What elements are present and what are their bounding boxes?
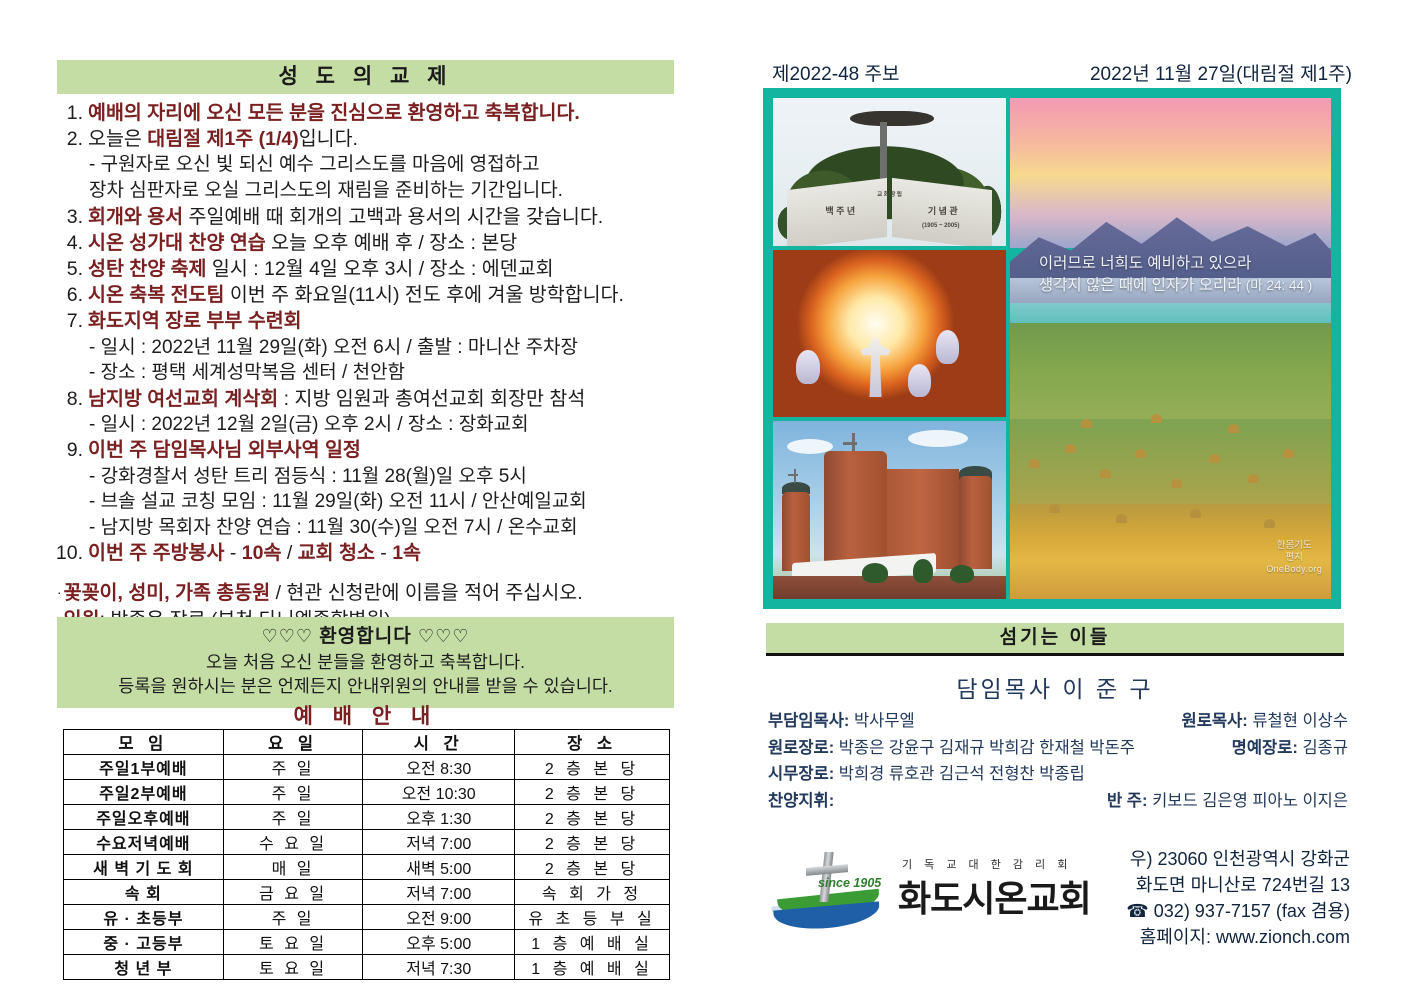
staff-right-group: 반 주: 키보드 김은영 피아노 이지은 (1107, 788, 1348, 815)
logo-mark: since 1905 (772, 850, 884, 924)
table-row: 중 · 고등부토 요 일오후 5:001 층 예 배 실 (64, 930, 670, 955)
announcement-text: 남지방 여선교회 계삭회 : 지방 임원과 총여선교회 회장만 참석 (88, 386, 674, 412)
table-cell: 주 일 (223, 805, 363, 830)
table-header-cell-2: 시 간 (363, 730, 515, 755)
staff-row-spacer (1085, 761, 1348, 788)
announcement-subitem: - 강화경찰서 성탄 트리 점등식 : 11월 28(월)일 오후 5시 (57, 464, 674, 490)
table-cell: 유 초 등 부 실 (515, 905, 670, 930)
table-cell: 주일오후예배 (64, 805, 224, 830)
prayer-item: ·꽃꽂이, 성미, 가족 총동원 / 현관 신청란에 이름을 적어 주십시오. (57, 580, 674, 608)
staff-row: 찬양지휘:반 주: 키보드 김은영 피아노 이지은 (768, 788, 1348, 815)
haystack-shape (1135, 449, 1146, 458)
haystack-shape (1029, 459, 1040, 468)
haystack-shape (1100, 469, 1111, 478)
table-row: 새 벽 기 도 회매 일새벽 5:002 층 본 당 (64, 855, 670, 880)
verse-line-1: 이러므로 너희도 예비하고 있으라 (1039, 253, 1315, 275)
staff-right-names: 키보드 김은영 피아노 이지은 (1148, 792, 1349, 810)
bulletin-page: 성 도 의 교 제 1.예배의 자리에 오신 모든 분을 진심으로 환영하고 축… (0, 0, 1403, 992)
announcement-item: 7.화도지역 장로 부부 수련회 (57, 308, 674, 334)
table-cell: 2 층 본 당 (515, 855, 670, 880)
table-row: 수요저녁예배수 요 일저녁 7:002 층 본 당 (64, 830, 670, 855)
worship-schedule-table: 모 임요 일시 간장 소 주일1부예배주 일오전 8:302 층 본 당주일2부… (63, 729, 670, 980)
table-cell: 2 층 본 당 (515, 830, 670, 855)
issue-date: 2022년 11월 27일(대림절 제1주) (1090, 59, 1352, 86)
table-cell: 유 · 초등부 (64, 905, 224, 930)
haystack-shape (1264, 519, 1275, 528)
scripture-verse-overlay: 이러므로 너희도 예비하고 있으라 생각지 않은 때에 인자가 오리라 (마 2… (1039, 253, 1315, 297)
verse-reference: (마 24: 44 ) (1246, 278, 1312, 293)
announcement-number: 9. (57, 437, 83, 463)
announcement-item: 3.회개와 용서 주일예배 때 회개의 고백과 용서의 시간을 갖습니다. (57, 204, 674, 230)
staff-left-group: 부담임목사: 박사무엘 (768, 708, 915, 735)
welcome-line-1: 오늘 처음 오신 분들을 환영하고 축복합니다. (57, 650, 674, 675)
staff-left-names: 박희경 류호관 김근석 전형찬 박종립 (834, 765, 1085, 783)
church-building-photo (773, 421, 1006, 599)
announcement-text: 이번 주 주방봉사 - 10속 / 교회 청소 - 1속 (88, 540, 674, 566)
announcement-text: 오늘은 대림절 제1주 (1/4)입니다. (88, 126, 674, 152)
welcome-line-2: 등록을 원하시는 분은 언제든지 안내위원의 안내를 받을 수 있습니다. (57, 674, 674, 699)
haystack-shape (1171, 479, 1182, 488)
table-cell: 오전 8:30 (363, 755, 515, 780)
left-column: 성 도 의 교 제 1.예배의 자리에 오신 모든 분을 진심으로 환영하고 축… (57, 60, 674, 690)
shrub-shape-2 (913, 559, 933, 583)
table-cell: 새벽 5:00 (363, 855, 515, 880)
haystack-shape (1049, 504, 1060, 513)
watermark-line-1: 한몸기도 (1266, 540, 1322, 552)
staff-right-names: 류철현 이상수 (1248, 712, 1348, 730)
watermark-org: OneBody.org (1266, 564, 1322, 575)
haystack-shape (1081, 419, 1092, 428)
welcome-title-row: ♡♡♡ 환영합니다 ♡♡♡ (57, 624, 674, 650)
announcement-text: 예배의 자리에 오신 모든 분을 진심으로 환영하고 축복합니다. (88, 100, 674, 126)
table-cell: 오전 9:00 (363, 905, 515, 930)
hearts-left-icon: ♡♡♡ (262, 626, 313, 646)
announcement-text: 시온 축복 전도팀 이번 주 화요일(11시) 전도 후에 겨울 방학합니다. (88, 282, 674, 308)
table-cell: 저녁 7:00 (363, 830, 515, 855)
table-header-cell-1: 요 일 (223, 730, 363, 755)
painting-background (773, 250, 1006, 417)
table-cell: 2 층 본 당 (515, 805, 670, 830)
table-cell: 매 일 (223, 855, 363, 880)
staff-left-label: 부담임목사: (768, 712, 849, 730)
announcement-text: 회개와 용서 주일예배 때 회개의 고백과 용서의 시간을 갖습니다. (88, 204, 674, 230)
announcement-number: 10. (51, 540, 83, 566)
address-line: 우) 23060 인천광역시 강화군 (1082, 846, 1350, 872)
haystack-shape (1116, 514, 1127, 523)
address-line: ☎ 032) 937-7157 (fax 겸용) (1082, 898, 1350, 924)
haystack-shape (1151, 414, 1162, 423)
table-cell: 수 요 일 (223, 830, 363, 855)
staff-row-spacer (915, 708, 1182, 735)
staff-row-spacer (1135, 735, 1232, 762)
table-cell: 주일2부예배 (64, 780, 224, 805)
announcement-item: 4.시온 성가대 찬양 연습 오늘 오후 예배 후 / 장소 : 본당 (57, 230, 674, 256)
angel-figure-left (796, 350, 819, 383)
table-cell: 중 · 고등부 (64, 930, 224, 955)
shrub-shape-1 (862, 563, 888, 583)
church-address-block: 우) 23060 인천광역시 강화군화도면 마니산로 724번길 13☎ 032… (1082, 846, 1350, 950)
table-row: 주일1부예배주 일오전 8:302 층 본 당 (64, 755, 670, 780)
table-cell: 토 요 일 (223, 955, 363, 980)
table-row: 주일오후예배주 일오후 1:302 층 본 당 (64, 805, 670, 830)
table-cell: 2 층 본 당 (515, 755, 670, 780)
logo-since-text: since 1905 (818, 876, 881, 890)
hearts-right-icon: ♡♡♡ (418, 626, 469, 646)
monument-caption-right: 기 념 관 (928, 206, 958, 216)
table-cell: 1 층 예 배 실 (515, 955, 670, 980)
angel-figure-right (936, 330, 959, 363)
announcement-item: 2.오늘은 대림절 제1주 (1/4)입니다. (57, 126, 674, 152)
servants-section-title: 섬기는 이들 (766, 623, 1344, 656)
announcement-text: 이번 주 담임목사님 외부사역 일정 (88, 437, 674, 463)
staff-right-group: 원로목사: 류철현 이상수 (1182, 708, 1348, 735)
staff-right-label: 명예장로: (1232, 739, 1298, 757)
table-cell: 오후 1:30 (363, 805, 515, 830)
table-cell: 속 회 (64, 880, 224, 905)
left-small-tower (782, 492, 810, 570)
announcement-number: 7. (57, 308, 83, 334)
staff-left-names: 박사무엘 (849, 712, 914, 730)
announcement-number: 6. (57, 282, 83, 308)
table-cell: 수요저녁예배 (64, 830, 224, 855)
announcement-text: 성탄 찬양 축제 일시 : 12월 4일 오후 3시 / 장소 : 에덴교회 (88, 256, 674, 282)
staff-row-spacer (834, 788, 1107, 815)
staff-right-names: 김종규 (1298, 739, 1348, 757)
haystack-shape (1283, 449, 1294, 458)
table-cell: 저녁 7:30 (363, 955, 515, 980)
staff-left-group: 시무장로: 박희경 류호관 김근석 전형찬 박종립 (768, 761, 1085, 788)
table-header-row: 모 임요 일시 간장 소 (64, 730, 670, 755)
photo-collage: 교 회 창 립 백 주 년 기 념 관 (1905 ~ 2005) (763, 88, 1341, 609)
staff-right-label: 원로목사: (1182, 712, 1248, 730)
haystack-shape (1248, 474, 1259, 483)
announcement-text: 화도지역 장로 부부 수련회 (88, 308, 674, 334)
table-cell: 주일1부예배 (64, 755, 224, 780)
announcement-number: 8. (57, 386, 83, 412)
announcement-subitem: - 일시 : 2022년 12월 2일(금) 오후 2시 / 장소 : 장화교회 (57, 412, 674, 438)
address-line: 홈페이지: www.zionch.com (1082, 924, 1350, 950)
haystack-shape (1065, 444, 1076, 453)
announcement-item: 9.이번 주 담임목사님 외부사역 일정 (57, 437, 674, 463)
table-cell: 금 요 일 (223, 880, 363, 905)
announcement-item: 1.예배의 자리에 오신 모든 분을 진심으로 환영하고 축복합니다. (57, 100, 674, 126)
table-cell: 주 일 (223, 905, 363, 930)
church-name: 화도시온교회 (898, 870, 1091, 922)
staff-row: 부담임목사: 박사무엘원로목사: 류철현 이상수 (768, 708, 1348, 735)
announcement-item: 8.남지방 여선교회 계삭회 : 지방 임원과 총여선교회 회장만 참석 (57, 386, 674, 412)
address-line: 화도면 마니산로 724번길 13 (1082, 872, 1350, 898)
bullet-dot-icon: · (57, 584, 62, 600)
staff-left-names: 박종은 강윤구 김재규 박희감 한재철 박돈주 (834, 739, 1135, 757)
ascension-painting-photo (773, 250, 1006, 417)
haystack-shape (1209, 454, 1220, 463)
table-row: 주일2부예배주 일오전 10:302 층 본 당 (64, 780, 670, 805)
cloud-shape-2 (908, 430, 968, 447)
table-cell: 저녁 7:00 (363, 880, 515, 905)
staff-left-label: 찬양지휘: (768, 792, 834, 810)
announcement-subitem: - 장소 : 평택 세계성막복음 센터 / 천안함 (57, 360, 674, 386)
announcement-number: 1. (57, 100, 83, 126)
table-cell: 주 일 (223, 755, 363, 780)
announcement-item: 6.시온 축복 전도팀 이번 주 화요일(11시) 전도 후에 겨울 방학합니다… (57, 282, 674, 308)
landscape-field-upper (1010, 323, 1331, 433)
announcement-item: 5.성탄 찬양 축제 일시 : 12월 4일 오후 3시 / 장소 : 에덴교회 (57, 256, 674, 282)
issue-number: 제2022-48 주보 (772, 59, 899, 86)
table-cell: 청 년 부 (64, 955, 224, 980)
announcement-subitem: 장차 심판자로 오실 그리스도의 재림을 준비하는 기간입니다. (57, 178, 674, 204)
table-cell: 2 층 본 당 (515, 780, 670, 805)
bell-canopy-shape (850, 111, 934, 126)
church-logo: since 1905 기 독 교 대 한 감 리 회 화도시온교회 (772, 848, 1072, 930)
bulletin-header: 제2022-48 주보 2022년 11월 27일(대림절 제1주) (772, 59, 1352, 86)
announcement-subitem: - 남지방 목회자 찬양 연습 : 11월 30(수)일 오전 7시 / 온수교… (57, 515, 674, 541)
announcement-number: 3. (57, 204, 83, 230)
staff-left-group: 찬양지휘: (768, 788, 834, 815)
collage-left-stack: 교 회 창 립 백 주 년 기 념 관 (1905 ~ 2005) (773, 98, 1006, 599)
welcome-title: 환영합니다 (319, 626, 411, 647)
monument-caption-top: 교 회 창 립 (877, 192, 902, 198)
left-cross-horizontal-icon (788, 474, 798, 476)
table-cell: 오후 5:00 (363, 930, 515, 955)
staff-list: 부담임목사: 박사무엘원로목사: 류철현 이상수원로장로: 박종은 강윤구 김재… (768, 708, 1348, 815)
announcement-text: 시온 성가대 찬양 연습 오늘 오후 예배 후 / 장소 : 본당 (88, 230, 674, 256)
fellowship-section-title: 성 도 의 교 제 (57, 60, 674, 94)
table-row: 속 회금 요 일저녁 7:00속 회 가 정 (64, 880, 670, 905)
monument-caption-years: (1905 ~ 2005) (922, 223, 960, 229)
landscape-layers (1010, 98, 1331, 599)
announcement-subitem: - 브솔 설교 코칭 모임 : 11월 29일(화) 오전 11시 / 안산예일… (57, 489, 674, 515)
angel-figure-center-right (908, 364, 931, 397)
staff-row: 시무장로: 박희경 류호관 김근석 전형찬 박종립 (768, 761, 1348, 788)
haystack-shape (1228, 424, 1239, 433)
table-row: 청 년 부토 요 일저녁 7:301 층 예 배 실 (64, 955, 670, 980)
haystack-shape (1190, 509, 1201, 518)
table-cell: 1 층 예 배 실 (515, 930, 670, 955)
table-cell: 새 벽 기 도 회 (64, 855, 224, 880)
main-cross-horizontal-icon (843, 442, 857, 445)
watermark-line-2: 편지 (1266, 552, 1322, 564)
main-round-tower (824, 451, 887, 568)
announcement-subitem: - 일시 : 2022년 11월 29일(화) 오전 6시 / 출발 : 마니산… (57, 335, 674, 361)
table-cell: 토 요 일 (223, 930, 363, 955)
announcement-list: 1.예배의 자리에 오신 모든 분을 진심으로 환영하고 축복합니다.2.오늘은… (57, 100, 674, 567)
announcement-subitem: - 구원자로 오신 빛 되신 예수 그리스도를 마음에 영접하고 (57, 152, 674, 178)
worship-guide-title: 예 배 안 내 (57, 700, 674, 730)
staff-left-label: 시무장로: (768, 765, 834, 783)
right-small-tower (959, 476, 992, 569)
staff-row: 원로장로: 박종은 강윤구 김재규 박희감 한재철 박돈주명예장로: 김종규 (768, 735, 1348, 762)
table-cell: 속 회 가 정 (515, 880, 670, 905)
verse-line-2: 생각지 않은 때에 인자가 오리라 (1039, 277, 1242, 294)
announcement-number: 5. (57, 256, 83, 282)
table-header-cell-0: 모 임 (64, 730, 224, 755)
announcement-number: 2. (57, 126, 83, 152)
open-book-monument: 교 회 창 립 백 주 년 기 념 관 (1905 ~ 2005) (787, 184, 992, 243)
photo-watermark: 한몸기도 편지 OneBody.org (1266, 540, 1322, 575)
staff-left-group: 원로장로: 박종은 강윤구 김재규 박희감 한재철 박돈주 (768, 735, 1135, 762)
staff-right-group: 명예장로: 김종규 (1232, 735, 1348, 762)
shrub-shape-3 (950, 565, 974, 583)
announcement-item: 10.이번 주 주방봉사 - 10속 / 교회 청소 - 1속 (57, 540, 674, 566)
announcement-number: 4. (57, 230, 83, 256)
staff-right-label: 반 주: (1107, 792, 1147, 810)
centennial-monument-photo: 교 회 창 립 백 주 년 기 념 관 (1905 ~ 2005) (773, 98, 1006, 246)
staff-left-label: 원로장로: (768, 739, 834, 757)
table-cell: 주 일 (223, 780, 363, 805)
senior-pastor-name: 담임목사 이 준 구 (766, 670, 1344, 704)
table-row: 유 · 초등부주 일오전 9:00유 초 등 부 실 (64, 905, 670, 930)
sunset-landscape-photo: 이러므로 너희도 예비하고 있으라 생각지 않은 때에 인자가 오리라 (마 2… (1010, 98, 1331, 599)
table-cell: 오전 10:30 (363, 780, 515, 805)
table-header-cell-3: 장 소 (515, 730, 670, 755)
welcome-box: ♡♡♡ 환영합니다 ♡♡♡ 오늘 처음 오신 분들을 환영하고 축복합니다. 등… (57, 617, 674, 708)
